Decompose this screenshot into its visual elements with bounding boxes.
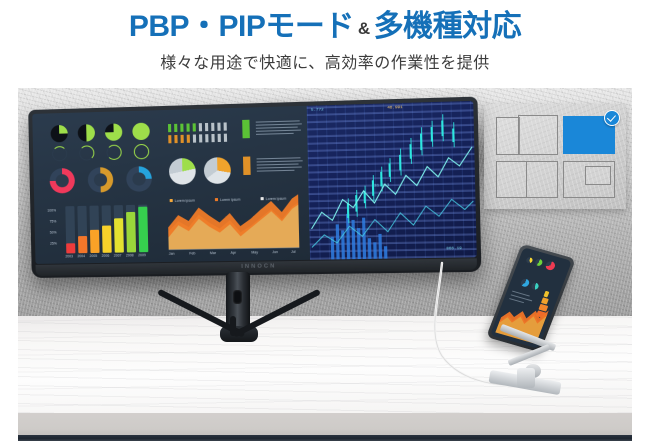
phone-screen [490, 247, 572, 349]
callout-text-line [257, 163, 299, 165]
bar-axis-label: 75% [50, 219, 57, 223]
desk-bottom-lip [18, 435, 632, 441]
ring-50 [79, 145, 94, 160]
bar-axis-label: 100% [47, 208, 56, 212]
trend-lines [307, 101, 477, 260]
bar-axis-label: 50% [50, 231, 57, 235]
pictogram [199, 134, 202, 142]
pictogram [224, 122, 227, 130]
pie-chart-a [169, 158, 196, 185]
bar-2006 [102, 225, 112, 252]
pictogram [217, 123, 220, 131]
area-axis-label: Mar [210, 251, 216, 255]
pictogram [205, 134, 208, 142]
bar-category-label: 2005 [89, 254, 97, 258]
product-photo: 100% 75% 50% 25% [18, 88, 632, 441]
bar-category-label: 2003 [65, 254, 73, 258]
legend-swatch [215, 198, 218, 201]
callout-text-line [256, 120, 300, 122]
pie-25 [50, 125, 67, 143]
page-title: PBP・PIPモード&多機種対応 [0, 8, 650, 48]
pictogram [218, 134, 221, 142]
pictogram [224, 134, 227, 142]
phone-stand-foot [517, 368, 535, 388]
callout-text-line [257, 157, 301, 159]
layout-split-2-even-b[interactable] [526, 161, 558, 198]
bar-2005 [90, 230, 100, 253]
ring-75 [106, 145, 122, 161]
bar-2004 [78, 236, 87, 253]
bar-category-label: 2008 [126, 253, 134, 257]
pictogram [186, 123, 189, 131]
check-icon [604, 110, 620, 126]
area-axis-label: May [251, 250, 258, 254]
person-figure-green [242, 120, 250, 139]
pie-100 [132, 123, 150, 141]
ring-25 [52, 146, 67, 161]
title-main-left: PBP・PIPモード [129, 10, 354, 43]
callout-text-line [256, 130, 301, 132]
bar-2003 [66, 243, 75, 253]
pictogram [205, 123, 208, 131]
monitor-screen: 100% 75% 50% 25% [32, 101, 477, 264]
stand-leg-back [230, 316, 236, 336]
bar-axis-label: 25% [50, 242, 57, 246]
pictogram [193, 134, 196, 142]
legend-swatch [170, 199, 173, 202]
callout-text-line [257, 170, 295, 172]
title-ampersand: & [354, 19, 374, 38]
pictogram [181, 135, 184, 143]
title-main-right: 多機種対応 [374, 10, 522, 43]
callout-text-line [256, 123, 302, 125]
phone-area-chart [490, 247, 572, 349]
callout-text-line [257, 166, 302, 168]
ring-100 [134, 144, 150, 160]
layout-pip-inset-window[interactable] [585, 166, 611, 185]
pictogram [174, 135, 177, 143]
dashboard-panel: 100% 75% 50% 25% [32, 106, 310, 264]
pictogram [174, 124, 177, 132]
pbp-pip-layout-selector[interactable] [484, 104, 626, 209]
bar-2009 [138, 207, 148, 253]
pictogram [193, 123, 196, 131]
pie-75 [105, 123, 123, 141]
layout-split-2-uneven-a[interactable] [496, 117, 520, 155]
trading-panel: 5.772 46.991 31.013 866.19 [307, 101, 477, 260]
layout-pbp-2-selected-a[interactable] [563, 116, 598, 154]
pictogram [168, 124, 171, 132]
monitor-bezel: 100% 75% 50% 25% [28, 97, 481, 278]
bar-category-label: 2007 [114, 254, 122, 258]
legend-label: Lorem ipsum [175, 199, 195, 203]
area-axis-label: Apr [231, 251, 237, 255]
brand-logo: INNOCN [241, 263, 276, 270]
bar-2008 [126, 212, 136, 253]
bar-2007 [114, 218, 124, 252]
bar-category-label: 2004 [77, 254, 85, 258]
pie-chart-b [204, 157, 231, 184]
pie-50 [78, 124, 96, 142]
person-figure-orange [243, 156, 251, 175]
pictogram [180, 124, 183, 132]
bar-category-label: 2009 [138, 253, 146, 257]
promo-page: PBP・PIPモード&多機種対応 様々な用途で快適に、高効率の作業性を提供 [0, 0, 650, 448]
pictogram [199, 123, 202, 131]
area-axis-label: Jun [272, 250, 278, 254]
callout-text-line [256, 127, 298, 129]
area-axis-label: Jul [291, 250, 296, 254]
legend-label: Lorem ipsum [220, 198, 240, 203]
pictogram [168, 135, 171, 143]
layout-split-2-uneven-b[interactable] [518, 115, 558, 155]
pictogram [211, 123, 214, 131]
area-axis-label: Jan [169, 252, 175, 256]
callout-text-line [257, 160, 303, 162]
area-axis-label: Feb [189, 251, 195, 255]
smartphone-on-stand [473, 248, 608, 408]
callout-text-line [256, 133, 294, 135]
pictogram [187, 135, 190, 143]
cable-cutout [233, 290, 242, 304]
desk-front-edge [18, 413, 632, 436]
ultrawide-monitor: 100% 75% 50% 25% [30, 110, 462, 298]
legend-swatch [261, 197, 264, 200]
layout-split-2-even-a[interactable] [496, 161, 527, 198]
pictogram [211, 134, 214, 142]
bar-category-label: 2006 [102, 254, 110, 258]
legend-label: Lorem ipsum [266, 197, 287, 202]
page-subtitle: 様々な用途で快適に、高効率の作業性を提供 [0, 52, 650, 76]
